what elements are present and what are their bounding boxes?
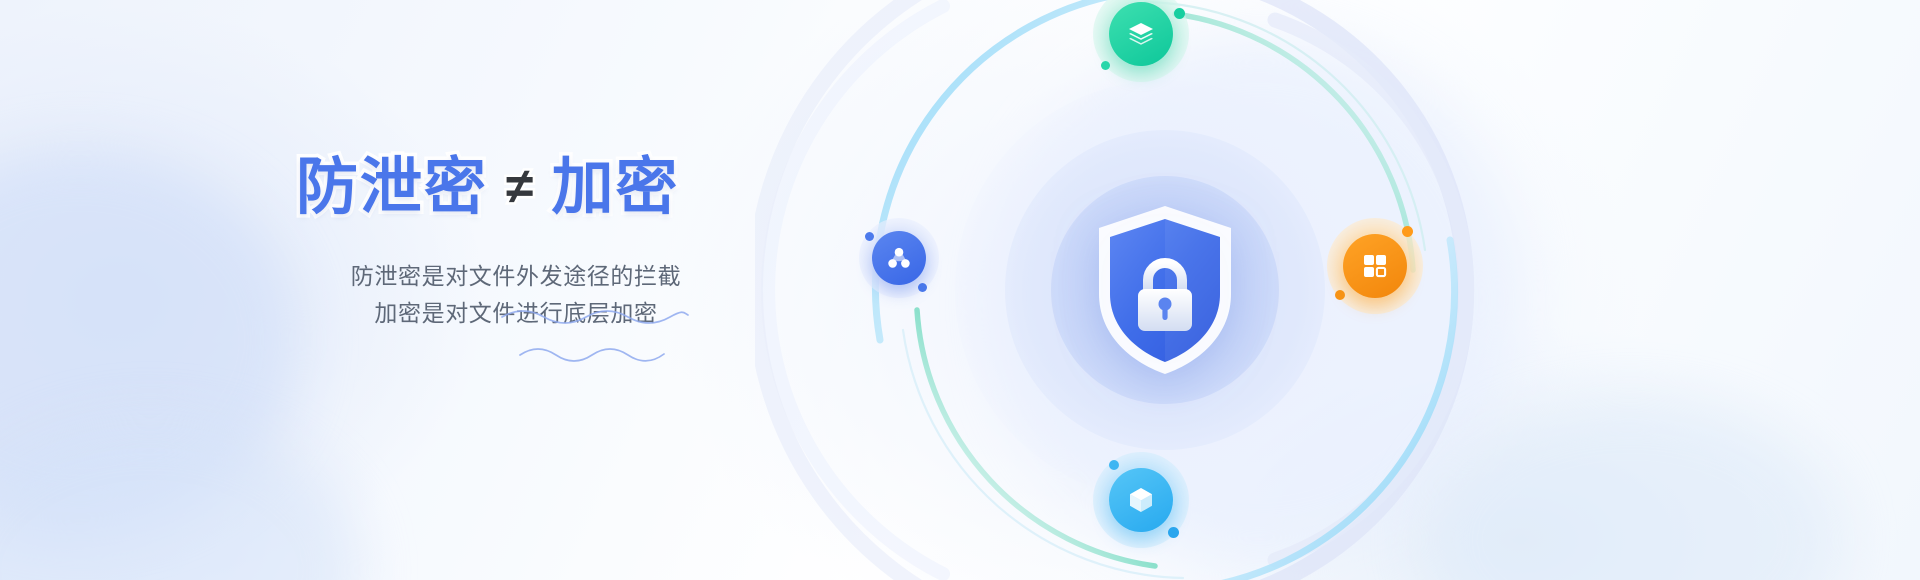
satellite-top-dot-2 <box>1101 61 1110 70</box>
satellite-top-layers[interactable] <box>1093 0 1189 82</box>
squiggle-underline-line2-icon <box>518 346 668 362</box>
grid-squares-icon <box>1361 252 1389 280</box>
satellite-top-core <box>1109 2 1173 66</box>
satellite-left-core <box>872 231 926 285</box>
share-nodes-icon <box>886 245 912 271</box>
satellite-left-dot-1 <box>865 232 874 241</box>
satellite-bottom-dot-2 <box>1168 527 1179 538</box>
satellite-right-dot-2 <box>1335 290 1345 300</box>
satellite-bottom-cube[interactable] <box>1093 452 1189 548</box>
subtitle-line-1: 防泄密是对文件外发途径的拦截 <box>296 258 736 295</box>
security-orbit-illustration <box>845 0 1485 580</box>
satellite-bottom-core <box>1109 468 1173 532</box>
orbit-stage <box>845 0 1485 580</box>
layers-stack-icon <box>1126 19 1156 49</box>
squiggle-underline-line1-icon <box>500 308 690 324</box>
headline-right-word: 加密 <box>551 157 679 219</box>
shield-lock-icon <box>1090 202 1240 378</box>
hero-banner: 防泄密 ≠ 加密 防泄密是对文件外发途径的拦截 加密是对文件进行底层加密 <box>0 0 1920 580</box>
satellite-bottom-dot-1 <box>1109 460 1119 470</box>
cube-3d-icon <box>1126 485 1156 515</box>
headline-not-equal-operator: ≠ <box>506 161 533 211</box>
page-title: 防泄密 ≠ 加密 <box>296 152 736 224</box>
hero-subtitle: 防泄密是对文件外发途径的拦截 加密是对文件进行底层加密 <box>296 258 736 332</box>
satellite-left-share[interactable] <box>859 218 939 298</box>
satellite-left-dot-2 <box>918 283 927 292</box>
headline-left-word: 防泄密 <box>296 157 488 219</box>
satellite-right-dot-1 <box>1402 226 1413 237</box>
satellite-right-grid[interactable] <box>1327 218 1423 314</box>
satellite-right-core <box>1343 234 1407 298</box>
satellite-top-dot-1 <box>1174 8 1185 19</box>
